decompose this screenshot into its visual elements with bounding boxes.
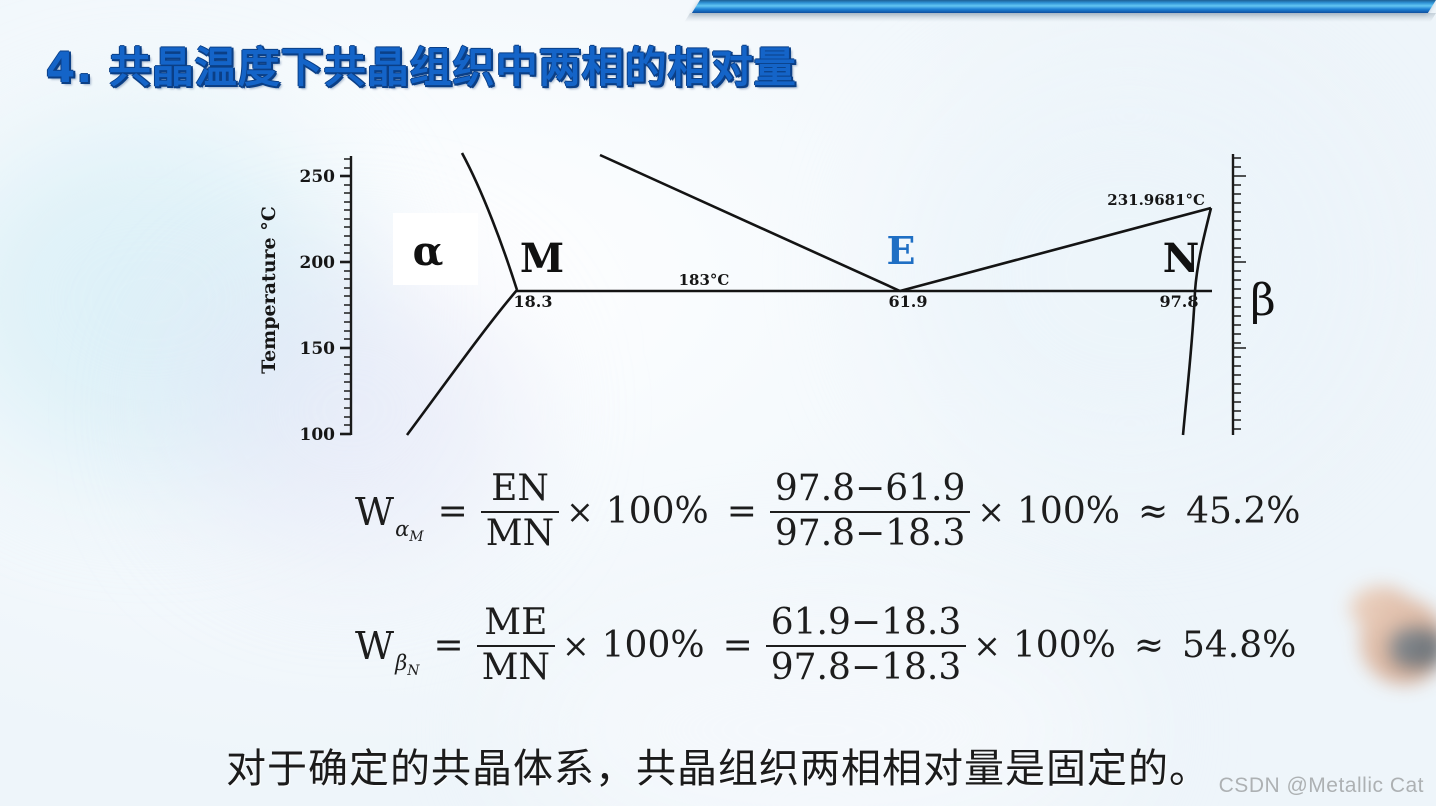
equation-beta-equals-1: = — [424, 625, 472, 666]
fraction-denominator: MN — [477, 649, 555, 688]
right-melting-point-label: 231.9681°C — [1107, 191, 1205, 209]
top-decorative-ribbon — [692, 0, 1436, 13]
composition-label-E: 61.9 — [889, 292, 928, 311]
equation-alpha-fraction-2: 97.8−61.9 97.8−18.3 — [766, 470, 974, 554]
equation-alpha-equals-2: = — [718, 491, 766, 532]
equation-beta-fraction-2: 61.9−18.3 97.8−18.3 — [762, 604, 970, 688]
y-axis-title: Temperature °C — [258, 206, 280, 374]
fraction-numerator: 97.8−61.9 — [770, 470, 970, 509]
liquidus-left-branch — [600, 155, 900, 291]
equation-alpha-equals-1: = — [429, 491, 477, 532]
equation-alpha-subscript: αM — [395, 517, 424, 541]
equation-beta-approx: ≈ — [1125, 625, 1173, 666]
fraction-denominator: MN — [481, 515, 559, 554]
equation-beta-fraction-1: ME MN — [473, 604, 559, 688]
equation-alpha-times-2: × — [974, 492, 1008, 531]
point-label-M: M — [520, 235, 564, 282]
eutectic-temperature-label: 183°C — [679, 271, 730, 289]
fraction-denominator: 97.8−18.3 — [770, 515, 970, 554]
phase-label-beta: β — [1250, 275, 1275, 326]
equation-beta-percent-2: 100% — [1004, 625, 1125, 666]
y-axis-tick-label: 200 — [300, 253, 336, 273]
equation-alpha-fraction-1: EN MN — [477, 470, 563, 554]
composition-label-M: 18.3 — [514, 292, 553, 311]
equation-alpha-times-1: × — [563, 492, 597, 531]
pointer-device — [1390, 628, 1436, 668]
equation-beta-subscript: βN — [395, 651, 419, 675]
point-label-N: N — [1163, 235, 1200, 282]
y-axis-tick-label: 100 — [300, 425, 336, 440]
fraction-numerator: ME — [479, 604, 552, 643]
presenter-hand-overlay — [1326, 580, 1436, 750]
equation-beta-percent-1: 100% — [593, 625, 714, 666]
equation-alpha-result: 45.2% — [1177, 491, 1309, 532]
equation-beta-equals-2: = — [714, 625, 762, 666]
right-axis-tick-minor-group — [1233, 158, 1246, 429]
equation-alpha-approx: ≈ — [1129, 491, 1177, 532]
fraction-denominator: 97.8−18.3 — [766, 649, 966, 688]
fraction-numerator: EN — [486, 470, 554, 509]
phase-label-alpha: α — [413, 228, 444, 275]
y-axis-tick-label: 150 — [300, 339, 336, 359]
top-ribbon-shadow — [684, 13, 1436, 22]
equation-beta-times-1: × — [559, 626, 593, 665]
equation-beta: WβN = ME MN × 100% = 61.9−18.3 97.8−18.3… — [355, 604, 1305, 688]
page-title: 4. 共晶温度下共晶组织中两相的相对量 — [46, 34, 797, 95]
hand-finger — [1350, 586, 1412, 630]
phase-diagram-svg: 250 200 150 100 Temperature °C — [255, 140, 1295, 440]
equation-alpha-percent-2: 100% — [1008, 491, 1129, 532]
watermark-text: CSDN @Metallic Cat — [1219, 774, 1424, 798]
equation-beta-result: 54.8% — [1173, 625, 1305, 666]
equation-alpha-w-symbol: WαM — [355, 490, 429, 534]
fraction-numerator: 61.9−18.3 — [766, 604, 966, 643]
point-label-E: E — [887, 228, 916, 273]
phase-diagram: 250 200 150 100 Temperature °C — [255, 140, 1295, 440]
equation-alpha: WαM = EN MN × 100% = 97.8−61.9 97.8−18.3… — [355, 470, 1310, 554]
slide-canvas: 4. 共晶温度下共晶组织中两相的相对量 — [0, 0, 1436, 806]
y-axis-tick-label: 250 — [300, 167, 336, 187]
hand-palm — [1360, 598, 1436, 684]
alpha-solvus-curve — [407, 290, 517, 435]
composition-label-N: 97.8 — [1160, 292, 1199, 311]
equation-beta-times-2: × — [970, 626, 1004, 665]
equation-beta-w-symbol: WβN — [355, 624, 424, 668]
equation-alpha-percent-1: 100% — [597, 491, 718, 532]
